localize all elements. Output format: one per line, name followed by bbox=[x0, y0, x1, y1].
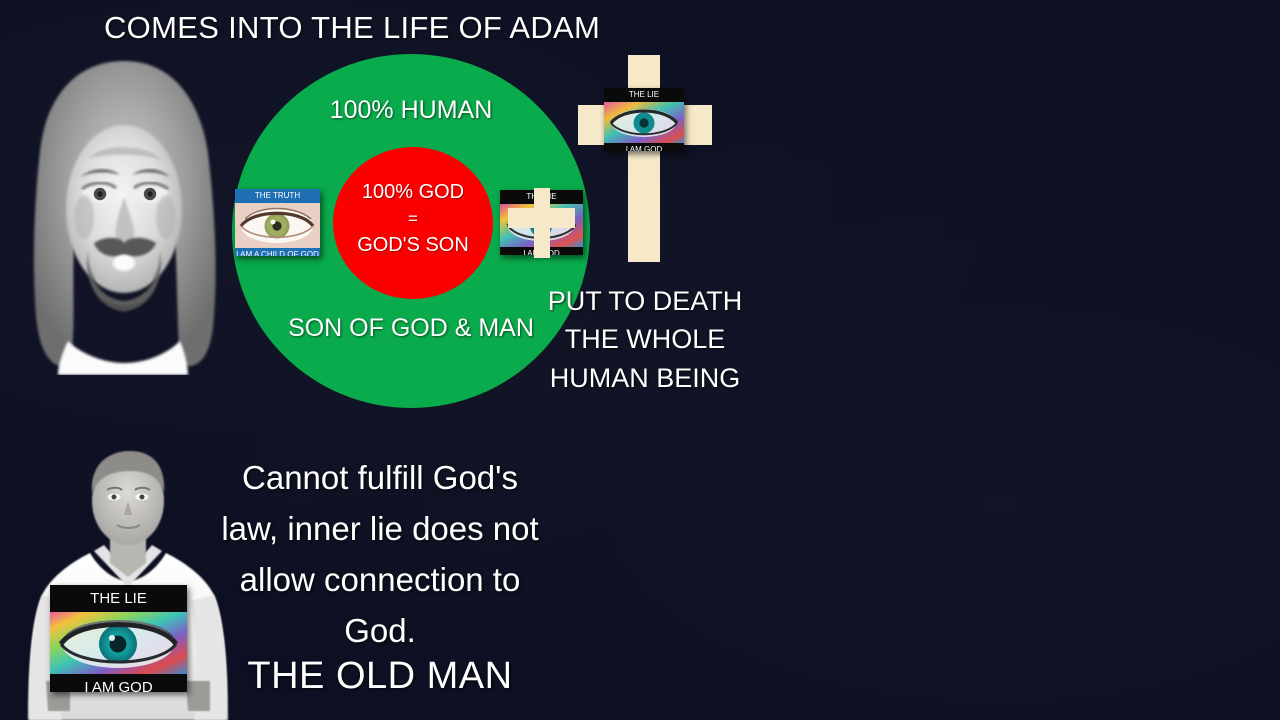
inner-circle-line3: GOD'S SON bbox=[357, 234, 469, 256]
truth-card-header: THE TRUTH bbox=[235, 189, 320, 203]
lie-eye-icon-large bbox=[50, 612, 187, 674]
inner-circle-equals: = bbox=[333, 208, 493, 230]
inner-circle-text: 100% GOD = GOD'S SON bbox=[333, 177, 493, 261]
cross-caption: PUT TO DEATH THE WHOLE HUMAN BEING bbox=[500, 282, 790, 397]
lie-card-cross-header: THE LIE bbox=[604, 88, 684, 102]
bottom-paragraph: Cannot fulfill God's law, inner lie does… bbox=[215, 452, 545, 657]
cross-caption-line2: THE WHOLE bbox=[500, 320, 790, 358]
page-title: COMES INTO THE LIFE OF ADAM bbox=[104, 10, 600, 46]
lie-card-on-cross: THE LIE bbox=[604, 88, 684, 151]
bottom-heading: THE OLD MAN bbox=[215, 655, 545, 698]
lie-card-large-footer: I AM GOD bbox=[50, 674, 187, 692]
inner-circle-line1: 100% GOD bbox=[362, 181, 464, 203]
lie-eye-icon-cross bbox=[604, 102, 684, 143]
cross-caption-line3: HUMAN BEING bbox=[500, 359, 790, 397]
truth-card-footer: I AM A CHILD OF GOD bbox=[235, 248, 320, 256]
mini-cross-horizontal-bar bbox=[508, 208, 575, 228]
colorful-eye-svg-cross bbox=[604, 102, 684, 143]
truth-card: THE TRUTH I AM A CHILD OF GOD bbox=[235, 189, 320, 256]
jesus-watercolor-svg bbox=[10, 55, 238, 375]
cross-caption-line1: PUT TO DEATH bbox=[500, 282, 790, 320]
truth-eye-icon bbox=[235, 203, 320, 248]
cross-vertical-bar bbox=[628, 55, 660, 262]
green-eye-svg bbox=[235, 203, 320, 248]
slide-canvas: COMES INTO THE LIFE OF ADAM bbox=[0, 0, 1280, 720]
lie-card-large-header: THE LIE bbox=[50, 585, 187, 612]
outer-circle-top-label: 100% HUMAN bbox=[232, 96, 590, 125]
jesus-portrait-image bbox=[10, 55, 238, 375]
lie-card-large: THE LIE bbox=[50, 585, 187, 692]
colorful-eye-svg-large bbox=[50, 612, 187, 674]
lie-card-cross-footer: I AM GOD bbox=[604, 143, 684, 151]
